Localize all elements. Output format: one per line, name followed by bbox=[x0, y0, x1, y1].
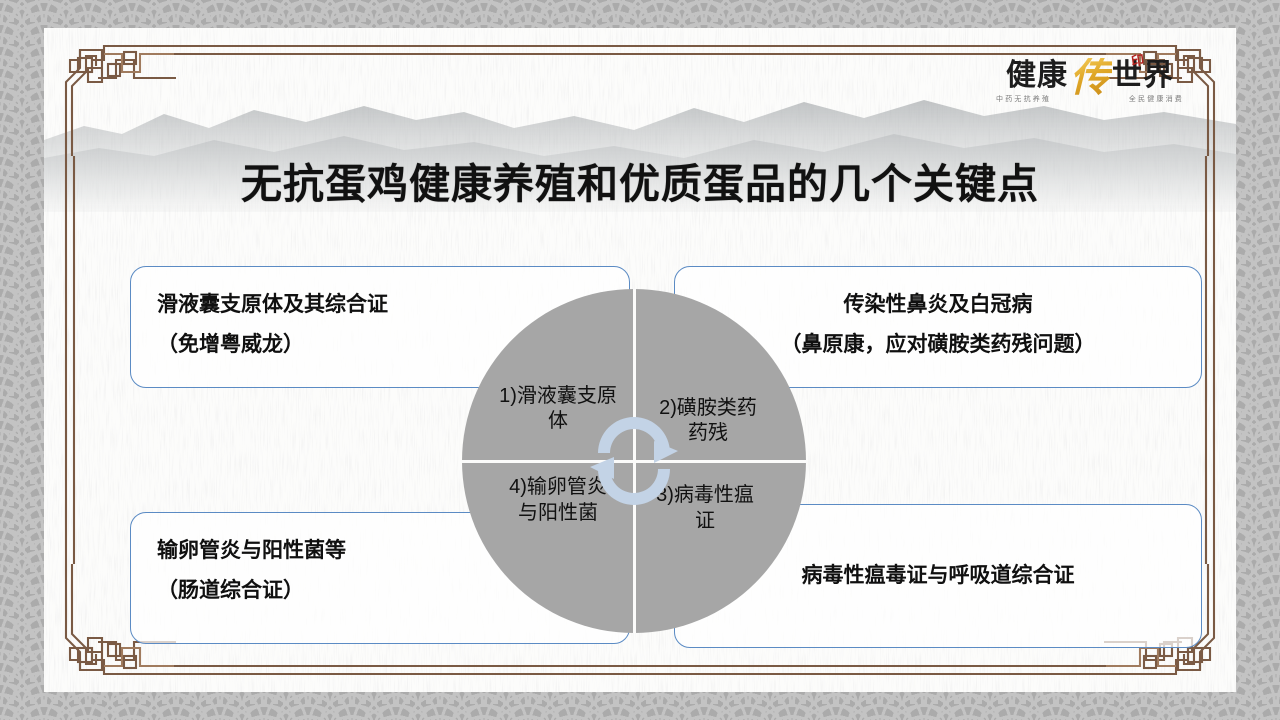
box-bottom-right-heading: 病毒性瘟毒证与呼吸道综合证 bbox=[802, 561, 1075, 590]
page-title: 无抗蛋鸡健康养殖和优质蛋品的几个关键点 bbox=[44, 150, 1236, 210]
slide-root: 无抗蛋鸡健康养殖和优质蛋品的几个关键点 健康 传 世界 印 中药无抗养殖 全民健… bbox=[0, 0, 1280, 720]
brand-logo: 健康 传 世界 印 中药无抗养殖 全民健康消费 bbox=[990, 52, 1190, 116]
logo-subtitle: 中药无抗养殖 全民健康消费 bbox=[990, 94, 1190, 104]
logo-seal-mark: 印 bbox=[1130, 49, 1146, 70]
logo-wordmark: 健康 传 世界 bbox=[990, 54, 1190, 98]
logo-word-left: 健康 bbox=[1006, 61, 1068, 91]
logo-word-cursive: 传 bbox=[1068, 58, 1112, 98]
paper-panel: 无抗蛋鸡健康养殖和优质蛋品的几个关键点 健康 传 世界 印 中药无抗养殖 全民健… bbox=[44, 28, 1236, 692]
logo-subtitle-right: 全民健康消费 bbox=[1129, 94, 1184, 104]
quadrant-wheel-diagram: 1)滑液囊支原体 2)磺胺类药药残 3)病毒性瘟证 4)输卵管炎与阳性菌 bbox=[462, 289, 806, 633]
logo-subtitle-left: 中药无抗养殖 bbox=[996, 94, 1051, 104]
recycle-arrows-icon bbox=[582, 409, 686, 513]
